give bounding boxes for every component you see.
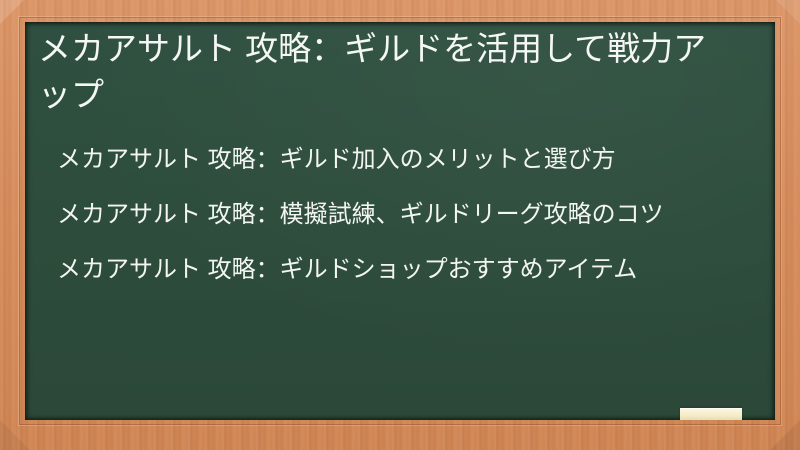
chalkboard-surface: メカアサルト 攻略：ギルドを活用して戦力アップ メカアサルト 攻略：ギルド加入の… [25, 22, 775, 420]
list-item[interactable]: メカアサルト 攻略：ギルドショップおすすめアイテム [38, 252, 728, 287]
table-of-contents: メカアサルト 攻略：ギルド加入のメリットと選び方 メカアサルト 攻略：模擬試練、… [38, 142, 728, 287]
chalk-stick-icon [680, 408, 742, 420]
list-item[interactable]: メカアサルト 攻略：模擬試練、ギルドリーグ攻略のコツ [38, 197, 728, 232]
chalkboard-graphic: メカアサルト 攻略：ギルドを活用して戦力アップ メカアサルト 攻略：ギルド加入の… [0, 0, 800, 450]
page-title: メカアサルト 攻略：ギルドを活用して戦力アップ [38, 26, 738, 118]
list-item[interactable]: メカアサルト 攻略：ギルド加入のメリットと選び方 [38, 142, 728, 177]
